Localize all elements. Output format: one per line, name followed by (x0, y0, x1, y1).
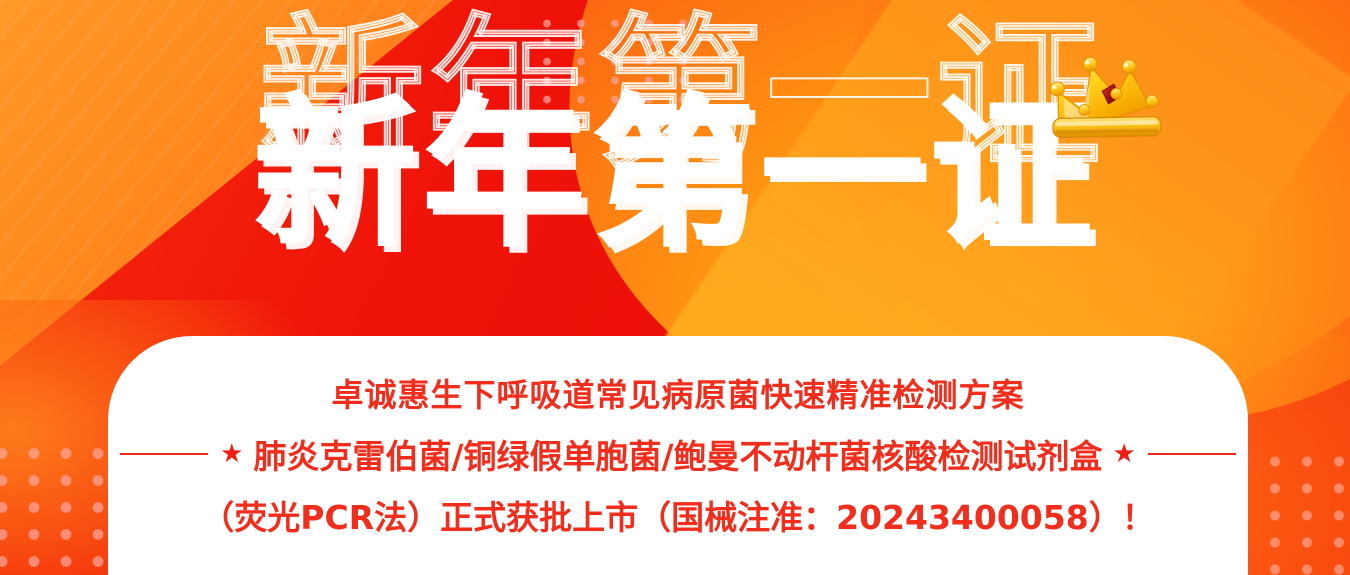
product-name-line: ★ 肺炎克雷伯菌/铜绿假单胞菌/鲍曼不动杆菌核酸检测试剂盒 ★ (108, 430, 1248, 478)
rule-left (120, 453, 208, 455)
info-card: 卓诚惠生下呼吸道常见病原菌快速精准检测方案 ★ 肺炎克雷伯菌/铜绿假单胞菌/鲍曼… (108, 336, 1248, 575)
rule-right (1148, 453, 1236, 455)
dot-grid-bottom-left (0, 440, 116, 575)
product-name-text: 肺炎克雷伯菌/铜绿假单胞菌/鲍曼不动杆菌核酸检测试剂盒 (253, 430, 1102, 478)
promo-banner: 新年第一证 新年第一证 (0, 0, 1350, 575)
headline-shadow-text: 新年第一证 (260, 13, 1105, 178)
star-right-icon: ★ (1113, 441, 1136, 467)
approval-line: （荧光PCR法）正式获批上市（国械注准：20243400058）！ (108, 491, 1248, 539)
star-left-icon: ★ (220, 441, 243, 467)
product-solution-line: 卓诚惠生下呼吸道常见病原菌快速精准检测方案 (108, 370, 1248, 416)
